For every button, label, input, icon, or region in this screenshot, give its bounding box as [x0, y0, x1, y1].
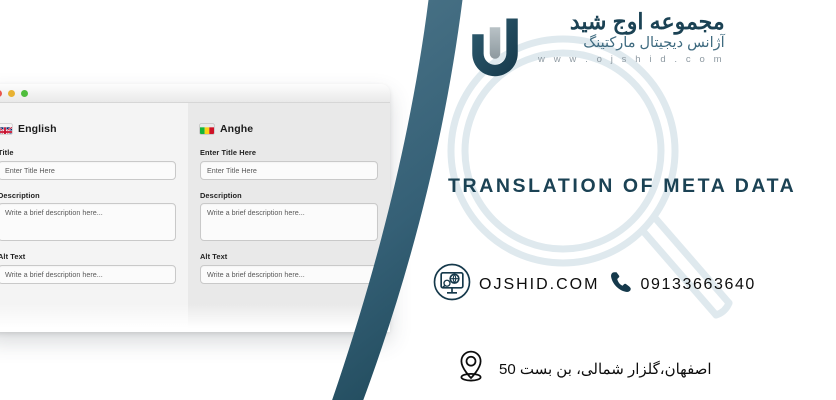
form-field-title: Title Enter Title Here [0, 148, 176, 180]
ojshid-u-mark-icon [460, 8, 530, 83]
brand-logo: مجموعه اوج شید آژانس دیجیتال مارکتینگ w … [460, 8, 725, 83]
mali-flag-icon [200, 124, 214, 134]
brand-website-small: w w w . o j s h i d . c o m [538, 54, 725, 65]
contact-row: OJSHID.COM 09133663640 [432, 262, 756, 307]
marketing-banner: English Title Enter Title Here Descripti… [0, 0, 836, 400]
language-header-english: English [0, 123, 176, 135]
address-row: اصفهان،گلزار شمالی، بن بست 50 [455, 348, 712, 389]
zoom-window-button[interactable] [21, 90, 28, 97]
language-column-english: English Title Enter Title Here Descripti… [0, 103, 188, 332]
phone-contact[interactable]: 09133663640 [609, 270, 755, 299]
close-window-button[interactable] [0, 90, 2, 97]
minimize-window-button[interactable] [8, 90, 15, 97]
form-field-description: Description Write a brief description he… [0, 191, 176, 242]
address-text: اصفهان،گلزار شمالی، بن بست 50 [499, 360, 712, 378]
website-contact[interactable]: OJSHID.COM [432, 262, 599, 307]
brand-title-fa: مجموعه اوج شید [570, 10, 725, 34]
brand-subtitle-fa: آژانس دیجیتال مارکتینگ [583, 35, 724, 51]
title-input[interactable]: Enter Title Here [0, 161, 176, 180]
field-label: Alt Text [0, 252, 176, 261]
phone-number: 09133663640 [640, 276, 755, 294]
form-field-alt-text: Alt Text Write a brief description here.… [0, 252, 176, 284]
field-label: Title [0, 148, 176, 157]
brand-panel: مجموعه اوج شید آژانس دیجیتال مارکتینگ w … [430, 0, 836, 400]
description-input[interactable]: Write a brief description here... [0, 203, 176, 241]
website-monitor-globe-icon [432, 262, 472, 307]
field-label: Description [0, 191, 176, 200]
website-url: OJSHID.COM [479, 276, 599, 294]
alt-text-input[interactable]: Write a brief description here... [0, 265, 176, 284]
phone-icon [609, 270, 633, 299]
language-name: Anghe [220, 123, 253, 135]
banner-headline: TRANSLATION OF META DATA [448, 175, 796, 198]
uk-flag-icon [0, 124, 12, 134]
map-pin-icon [455, 348, 487, 389]
language-name: English [18, 123, 57, 135]
